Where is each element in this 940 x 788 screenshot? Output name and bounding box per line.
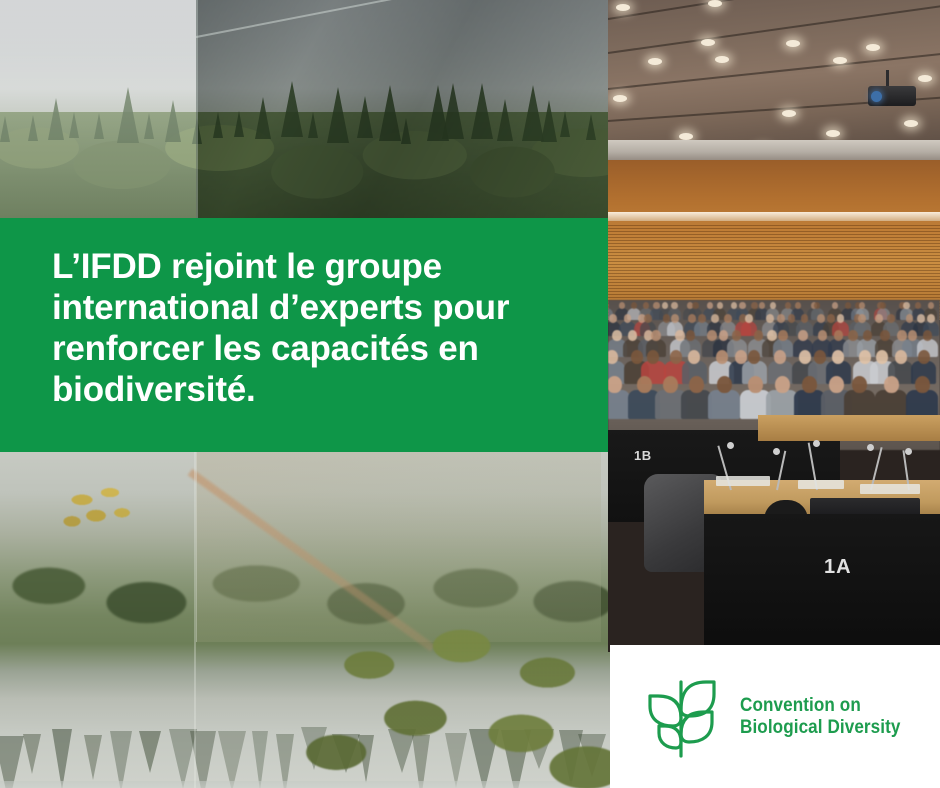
microphone-stem <box>776 451 786 491</box>
delegate-head <box>688 314 696 323</box>
delegate-head <box>845 302 851 309</box>
delegate-head <box>777 314 785 323</box>
tree-reflection <box>252 731 268 788</box>
document-paper <box>860 484 920 494</box>
delegate-head <box>751 302 757 309</box>
delegate-head <box>628 330 638 341</box>
desk-label-1a: 1A <box>824 556 852 579</box>
ceiling-grid-line <box>608 46 940 90</box>
delegate-head <box>801 314 809 323</box>
conference-ceiling-beam <box>608 140 940 162</box>
ceiling-light <box>866 44 880 51</box>
delegate-head <box>754 330 764 341</box>
ceiling-grid-line <box>608 0 940 20</box>
delegate-head <box>928 302 934 309</box>
conference-ceiling-lights <box>608 0 940 150</box>
ceiling-light <box>616 4 630 11</box>
tree-reflection <box>139 731 161 773</box>
delegate-head <box>832 302 838 309</box>
delegate-head <box>774 350 786 364</box>
delegate-head <box>671 314 679 323</box>
delegate-head <box>717 302 723 309</box>
tree-reflection <box>52 729 72 788</box>
delegate-head <box>799 350 811 364</box>
logo-line-2: Biological Diversity <box>740 717 901 738</box>
delegate-head <box>624 314 632 323</box>
autumn-leaf-cluster <box>52 471 152 543</box>
social-media-card: 1B 1A L’IFDD rejoint le groupe internati… <box>0 0 940 788</box>
cbd-leaf-mark-icon <box>638 668 724 765</box>
delegate-head <box>906 314 914 323</box>
delegate-head <box>748 350 760 364</box>
ceiling-projector <box>868 86 916 106</box>
delegate-head <box>671 302 677 309</box>
delegate-head <box>732 330 742 341</box>
tree-reflection <box>84 735 102 780</box>
delegate-head <box>837 314 845 323</box>
delegate-head <box>834 330 844 341</box>
microphone-head <box>813 440 820 447</box>
delegate-head <box>653 302 659 309</box>
delegate-head <box>848 330 858 341</box>
forest-glass-diagonal <box>196 0 610 120</box>
delegate-head <box>608 350 618 364</box>
delegate-head <box>707 330 717 341</box>
delegate-head <box>766 314 774 323</box>
delegate-head <box>643 302 649 309</box>
headline-text: L’IFDD rejoint le groupe international d… <box>52 246 574 410</box>
document-paper <box>798 480 844 489</box>
delegate-head <box>863 330 873 341</box>
delegate-head <box>631 350 643 364</box>
ceiling-light <box>708 0 722 7</box>
delegate-head <box>923 330 933 341</box>
delegate-head <box>903 302 909 309</box>
delegate-head <box>778 330 788 341</box>
delegate-head <box>827 314 835 323</box>
photo-conference-hall: 1B 1A <box>608 0 940 652</box>
ceiling-light <box>679 133 693 140</box>
delegate-head <box>817 314 825 323</box>
photo-lake <box>0 445 610 788</box>
delegate-head <box>876 350 888 364</box>
delegate-head <box>814 350 826 364</box>
delegate-head <box>887 314 895 323</box>
ceiling-light <box>715 56 729 63</box>
ceiling-light <box>648 58 662 65</box>
tree-reflection <box>110 731 132 788</box>
ceiling-light <box>782 110 796 117</box>
tree-reflection <box>218 731 246 788</box>
headline-banner: L’IFDD rejoint le groupe international d… <box>0 218 608 452</box>
delegate-head <box>818 330 828 341</box>
forest-haze-overlay <box>0 0 196 232</box>
document-paper <box>716 476 770 486</box>
delegate-head <box>770 302 776 309</box>
delegate-head <box>785 302 791 309</box>
delegate-head <box>670 350 682 364</box>
delegate-head <box>692 302 698 309</box>
conference-microphones <box>608 380 940 520</box>
ceiling-light <box>833 57 847 64</box>
delegate-head <box>798 330 808 341</box>
microphone-head <box>867 444 874 451</box>
delegate-head <box>875 314 883 323</box>
conference-wall-lightstrip <box>608 212 940 221</box>
photo-forest <box>0 0 610 232</box>
lake-foreground-shrub <box>290 608 610 788</box>
ceiling-light <box>904 120 918 127</box>
ceiling-light <box>701 39 715 46</box>
microphone-head <box>727 442 734 449</box>
delegate-head <box>858 314 866 323</box>
delegate-head <box>698 314 706 323</box>
ceiling-grid-line <box>608 0 940 54</box>
delegate-head <box>631 302 637 309</box>
delegate-head <box>895 350 907 364</box>
delegate-head <box>917 314 925 323</box>
lake-inset-seam <box>196 450 197 642</box>
delegate-head <box>724 314 732 323</box>
logo-line-1: Convention on <box>740 695 901 716</box>
microphone-head <box>905 448 912 455</box>
ceiling-light <box>613 95 627 102</box>
delegate-head <box>745 314 753 323</box>
forest-glass-seam <box>196 0 198 232</box>
delegate-head <box>688 350 700 364</box>
delegate-head <box>686 330 696 341</box>
tree-reflection <box>23 734 41 774</box>
delegate-head <box>731 302 737 309</box>
delegate-head <box>795 302 801 309</box>
conference-desk-front: 1A <box>704 514 940 652</box>
delegate-head <box>832 350 844 364</box>
delegate-head <box>880 330 890 341</box>
lake-panel-seam <box>194 445 196 788</box>
delegate-head <box>767 330 777 341</box>
delegate-head <box>647 350 659 364</box>
delegate-head <box>719 330 729 341</box>
delegate-head <box>788 314 796 323</box>
delegate-head <box>644 314 652 323</box>
delegate-head <box>859 350 871 364</box>
ceiling-light <box>826 130 840 137</box>
delegate-head <box>711 314 719 323</box>
delegate-head <box>663 314 671 323</box>
delegate-head <box>612 330 622 341</box>
delegate-head <box>908 330 918 341</box>
cbd-wordmark: Convention on Biological Diversity <box>740 695 918 738</box>
delegate-head <box>609 314 617 323</box>
delegate-head <box>739 302 745 309</box>
microphone-head <box>773 448 780 455</box>
ceiling-light <box>918 75 932 82</box>
delegate-head <box>651 330 661 341</box>
delegate-head <box>918 350 930 364</box>
cbd-logo-panel: Convention on Biological Diversity <box>610 645 940 788</box>
delegate-head <box>927 314 935 323</box>
delegate-head <box>716 350 728 364</box>
ceiling-light <box>786 40 800 47</box>
